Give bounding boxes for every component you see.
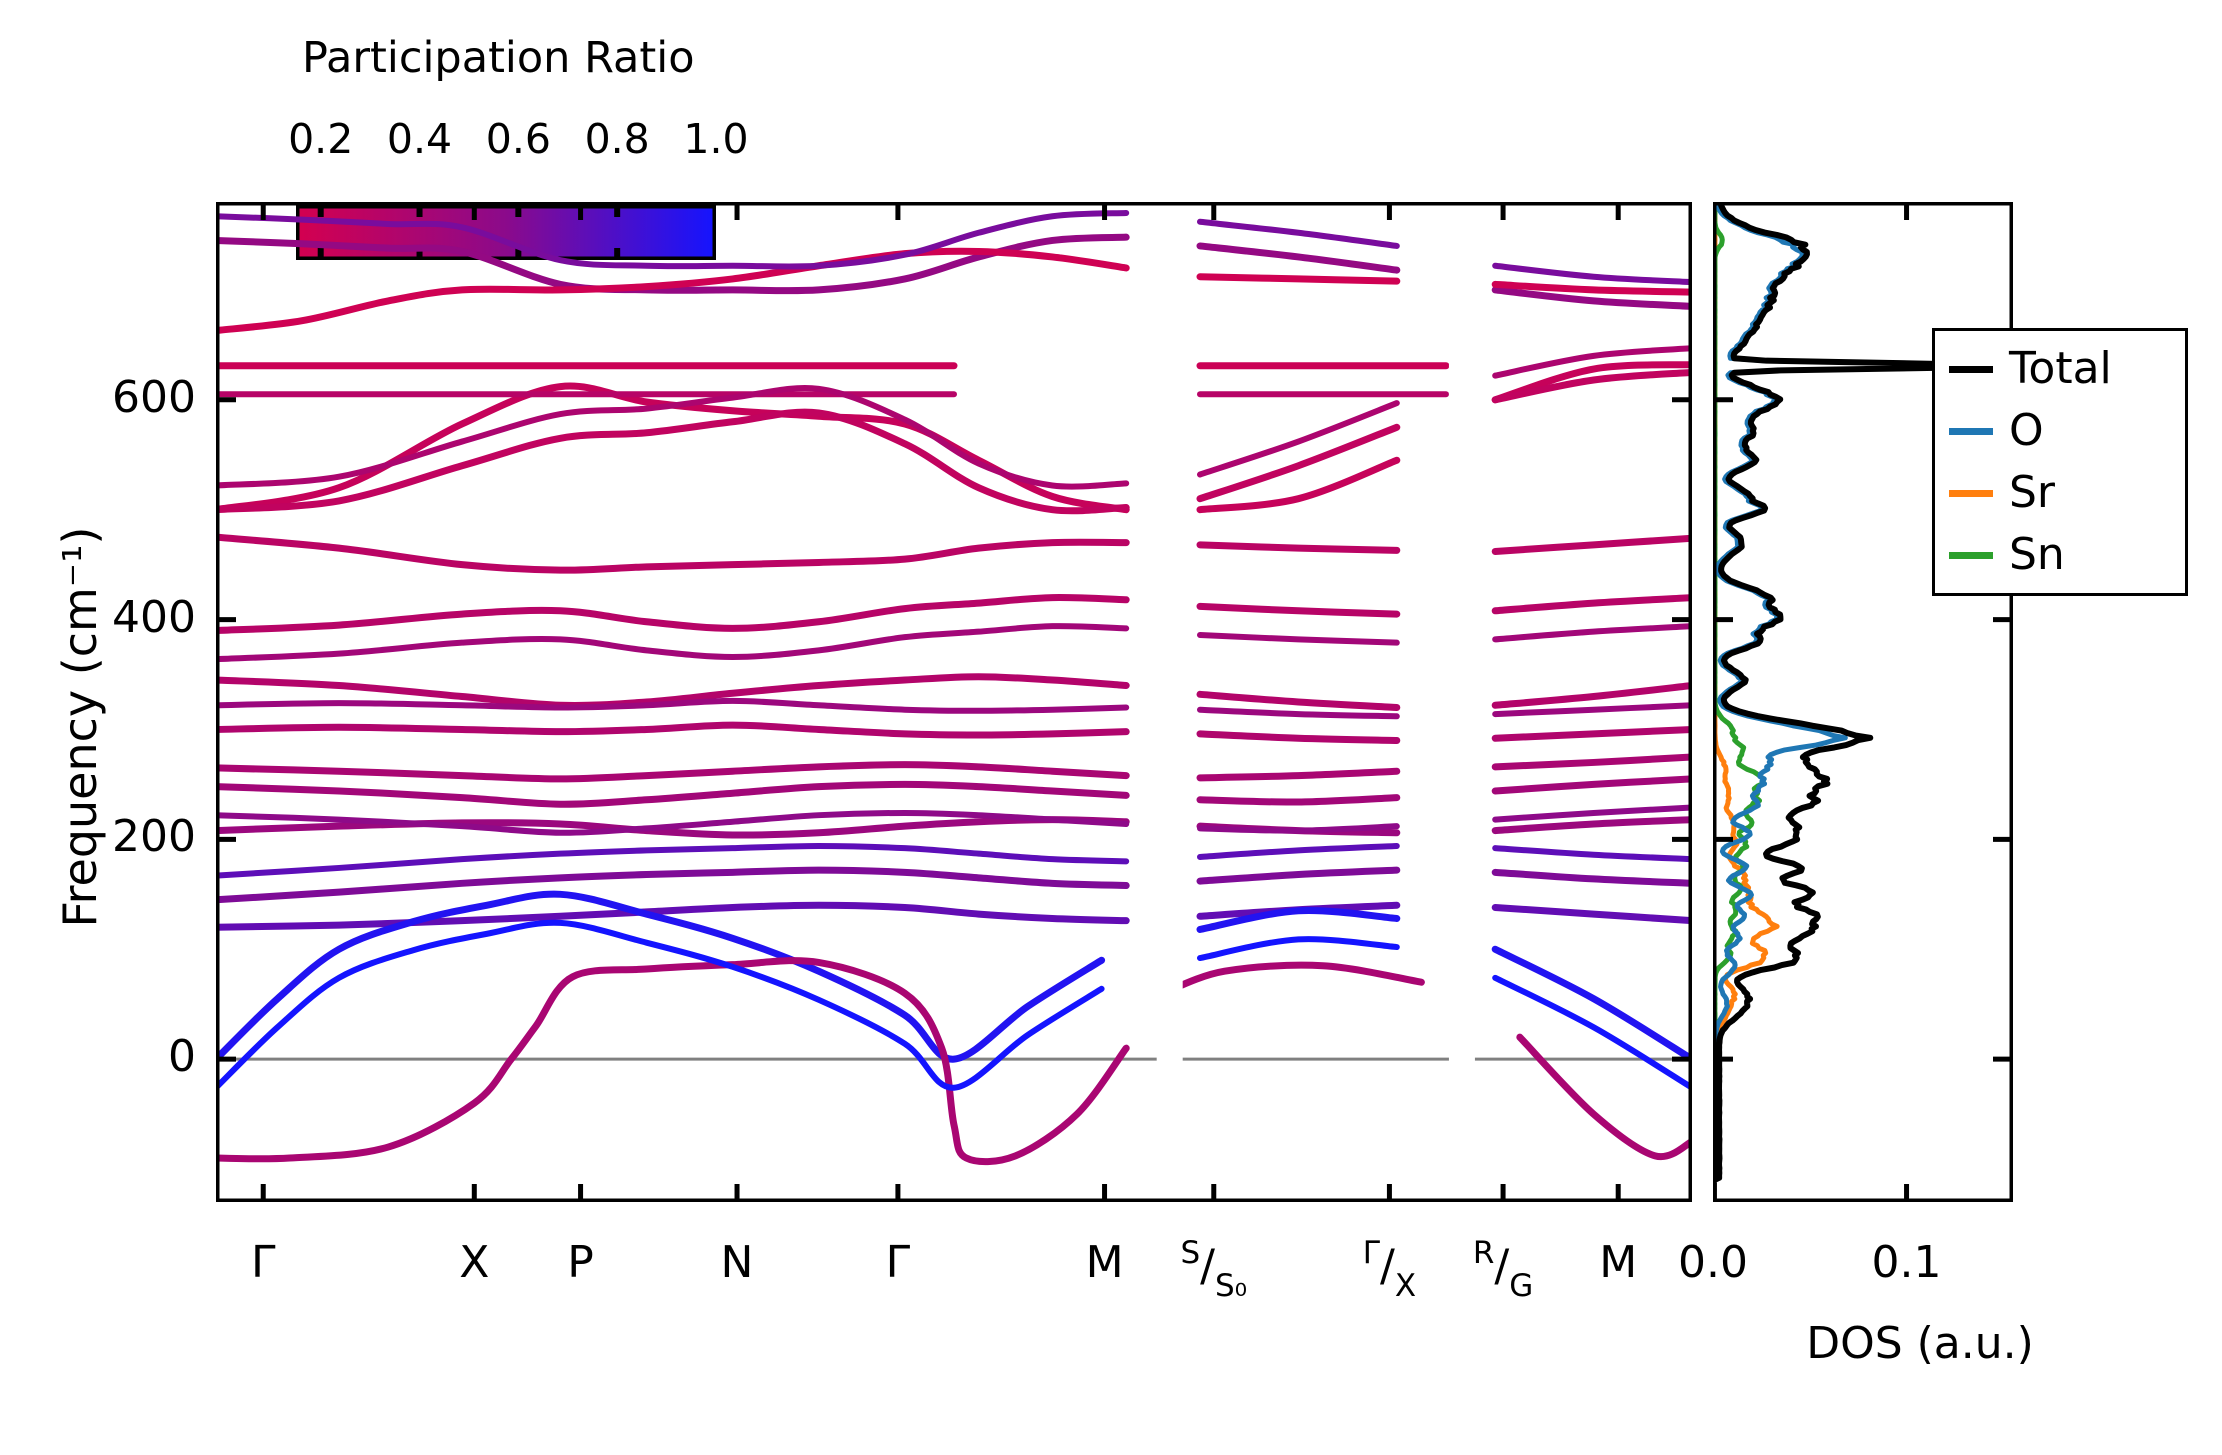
phonon-band-curve (1200, 734, 1397, 741)
phonon-band-curve (216, 388, 1126, 487)
dos-x-tick-label: 0.0 (1633, 1237, 1793, 1288)
phonon-band-curve (216, 725, 1126, 735)
legend-color-swatch (1949, 428, 1993, 435)
phonon-band-curve (216, 701, 1126, 711)
phonon-band-curve (1200, 939, 1397, 958)
phonon-band-curve (1495, 820, 1692, 831)
legend-item: Total (1949, 341, 2112, 397)
y-axis-label: Frequency (cm⁻¹) (53, 497, 107, 957)
legend-item: Sr (1949, 465, 2055, 521)
figure-canvas: Participation Ratio 0.20.40.60.81.0 Freq… (0, 0, 2222, 1455)
phonon-band-curve (1495, 872, 1692, 883)
phonon-band-curve (216, 412, 1126, 511)
legend-label: Total (2009, 347, 2112, 391)
colorbar-tick-label: 0.2 (276, 115, 366, 163)
phonon-band-curve (1200, 710, 1397, 717)
x-tick-label: S/S₀ (1144, 1237, 1284, 1298)
phonon-band-curve (1163, 965, 1421, 993)
legend-color-swatch (1949, 552, 1993, 559)
y-tick-label: 200 (56, 811, 196, 862)
phonon-band-curve (1495, 978, 1692, 1088)
dos-x-axis-label: DOS (a.u.) (1700, 1318, 2140, 1369)
phonon-band-curve (1200, 798, 1397, 802)
y-tick-label: 0 (56, 1031, 196, 1082)
colorbar-tick-label: 0.6 (473, 115, 563, 163)
phonon-band-curve (216, 598, 1126, 631)
phonon-band-curve (1200, 606, 1397, 614)
band-structure-plot (216, 202, 1692, 1202)
phonon-band-curve (1495, 848, 1692, 859)
phonon-band-curve (1200, 277, 1397, 281)
phonon-band-curve (1495, 705, 1692, 714)
phonon-band-curve (1200, 694, 1397, 707)
phonon-band-curve (1200, 222, 1397, 246)
dos-legend: TotalOSrSn (1932, 328, 2188, 596)
phonon-band-curve (216, 870, 1126, 900)
phonon-band-curve (1495, 598, 1692, 611)
y-tick-label: 400 (56, 592, 196, 643)
x-tick-label: Γ (828, 1237, 968, 1288)
colorbar-tick-label: 0.4 (375, 115, 465, 163)
phonon-band-curve (1495, 626, 1692, 639)
x-tick-label: P (511, 1237, 651, 1288)
phonon-band-curve (1200, 846, 1397, 857)
phonon-band-curve (1200, 771, 1397, 778)
x-tick-label: Γ (193, 1237, 333, 1288)
colorbar-title: Participation Ratio (302, 33, 695, 83)
phonon-band-curve (216, 961, 1126, 1162)
phonon-band-curve (216, 784, 1126, 804)
phonon-band-curve (1495, 757, 1692, 767)
phonon-band-curve (216, 894, 1102, 1059)
phonon-band-curve (1495, 729, 1692, 738)
phonon-band-curve (1520, 1037, 1692, 1156)
legend-label: O (2009, 409, 2044, 453)
phonon-band-curve (216, 765, 1126, 779)
phonon-band-curve (1200, 870, 1397, 881)
phonon-band-curve (1495, 779, 1692, 791)
phonon-band-curve (1200, 635, 1397, 643)
colorbar-tick-label: 1.0 (671, 115, 761, 163)
legend-item: Sn (1949, 527, 2065, 583)
phonon-band-curve (1495, 538, 1692, 551)
phonon-band-curve (1495, 266, 1692, 282)
legend-item: O (1949, 403, 2044, 459)
phonon-band-curve (1495, 907, 1692, 920)
legend-label: Sr (2009, 471, 2055, 515)
dos-x-tick-label: 0.1 (1827, 1237, 1987, 1288)
legend-color-swatch (1949, 490, 1993, 497)
phonon-band-curve (216, 213, 1126, 267)
phonon-band-curve (1495, 686, 1692, 706)
phonon-band-curve (1200, 545, 1397, 550)
phonon-band-curve (1200, 246, 1397, 270)
legend-label: Sn (2009, 533, 2065, 577)
legend-color-swatch (1949, 366, 1993, 373)
y-tick-label: 600 (56, 372, 196, 423)
phonon-band-curve (216, 537, 1126, 570)
phonon-band-curve (216, 626, 1126, 659)
phonon-band-curve (1200, 826, 1397, 830)
colorbar-tick-label: 0.8 (572, 115, 662, 163)
x-tick-label: N (667, 1237, 807, 1288)
